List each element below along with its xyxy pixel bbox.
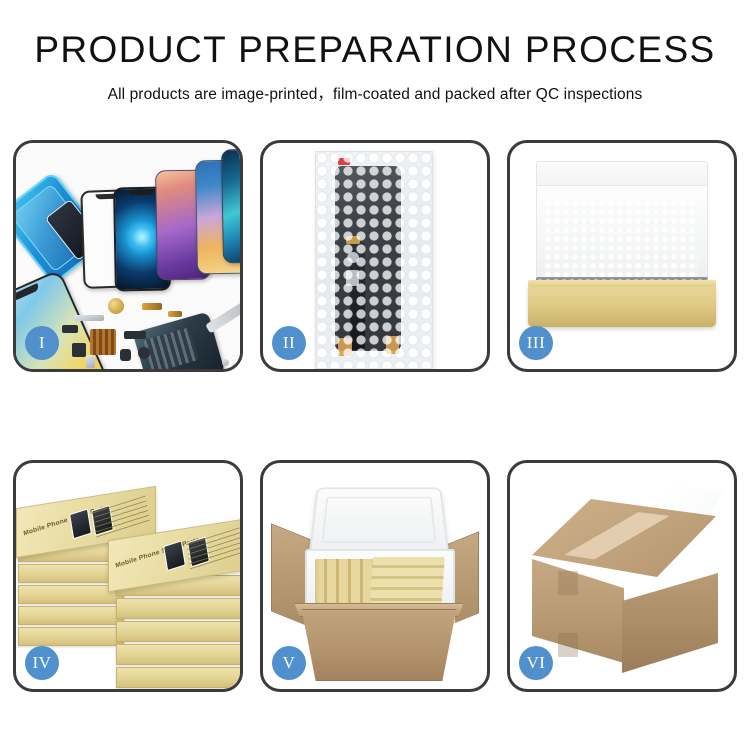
chip-graphic bbox=[347, 252, 359, 263]
sensor-part-graphic bbox=[62, 325, 78, 333]
step-panel-6[interactable]: VI bbox=[507, 460, 737, 692]
vibrator-part-graphic bbox=[138, 347, 150, 359]
stacked-box-graphic bbox=[116, 598, 240, 619]
speaker-part-graphic bbox=[108, 298, 124, 314]
step-badge-5: V bbox=[272, 646, 306, 680]
step-badge-2: II bbox=[272, 326, 306, 360]
qc-label-graphic bbox=[338, 158, 350, 165]
step-badge-1: I bbox=[25, 326, 59, 360]
page-title: PRODUCT PREPARATION PROCESS bbox=[0, 30, 750, 71]
carton-side-right-graphic bbox=[622, 573, 718, 673]
step-panel-2[interactable]: II bbox=[260, 140, 490, 372]
connector-graphic bbox=[386, 336, 399, 354]
connector-graphic bbox=[124, 331, 146, 339]
page-subtitle: All products are image-printed，film-coat… bbox=[0, 82, 750, 104]
foam-lid-graphic bbox=[309, 488, 450, 555]
button-part-graphic bbox=[72, 343, 86, 357]
carton-tab-graphic bbox=[558, 571, 578, 595]
product-preparation-infographic: PRODUCT PREPARATION PROCESS All products… bbox=[0, 0, 750, 750]
metal-bracket-graphic bbox=[74, 315, 104, 321]
step-badge-6: VI bbox=[519, 646, 553, 680]
carton-tab-graphic bbox=[558, 633, 578, 657]
carton-side-left-graphic bbox=[532, 559, 624, 663]
bubble-wrap-graphic bbox=[315, 151, 433, 369]
flex-cable-graphic bbox=[142, 303, 162, 310]
connector-graphic bbox=[346, 236, 360, 244]
step-badge-4: IV bbox=[25, 646, 59, 680]
stacked-box-graphic bbox=[18, 606, 124, 625]
step-panel-5[interactable]: V bbox=[260, 460, 490, 692]
gold-box-base-graphic bbox=[528, 285, 716, 327]
screw-graphic bbox=[232, 363, 238, 369]
foam-sheet-graphic bbox=[544, 199, 698, 285]
step-panel-4[interactable]: Mobile Phone Spare Parts Mobile Phone Sp… bbox=[13, 460, 243, 692]
ic-chip-graphic bbox=[90, 329, 116, 355]
process-steps-grid: I II bbox=[13, 140, 737, 692]
gold-boxes-inside-graphic bbox=[369, 557, 445, 609]
camera-part-graphic bbox=[120, 349, 131, 361]
sim-tray-graphic bbox=[86, 355, 95, 368]
stacked-box-graphic bbox=[116, 644, 240, 665]
connector-graphic bbox=[338, 338, 352, 356]
stacked-box-graphic bbox=[116, 667, 240, 688]
stacked-box-graphic bbox=[18, 627, 124, 646]
teal-gradient-phone-graphic bbox=[221, 149, 240, 264]
screw-graphic bbox=[222, 359, 229, 366]
flex-cable-graphic bbox=[168, 311, 182, 317]
header: PRODUCT PREPARATION PROCESS All products… bbox=[0, 0, 750, 104]
step-badge-3: III bbox=[519, 326, 553, 360]
chip-graphic bbox=[346, 270, 359, 286]
wrapped-screen-graphic bbox=[335, 166, 401, 351]
step-panel-1[interactable]: I bbox=[13, 140, 243, 372]
carton-front-graphic bbox=[291, 609, 467, 681]
step-panel-3[interactable]: III bbox=[507, 140, 737, 372]
stacked-box-graphic bbox=[116, 621, 240, 642]
